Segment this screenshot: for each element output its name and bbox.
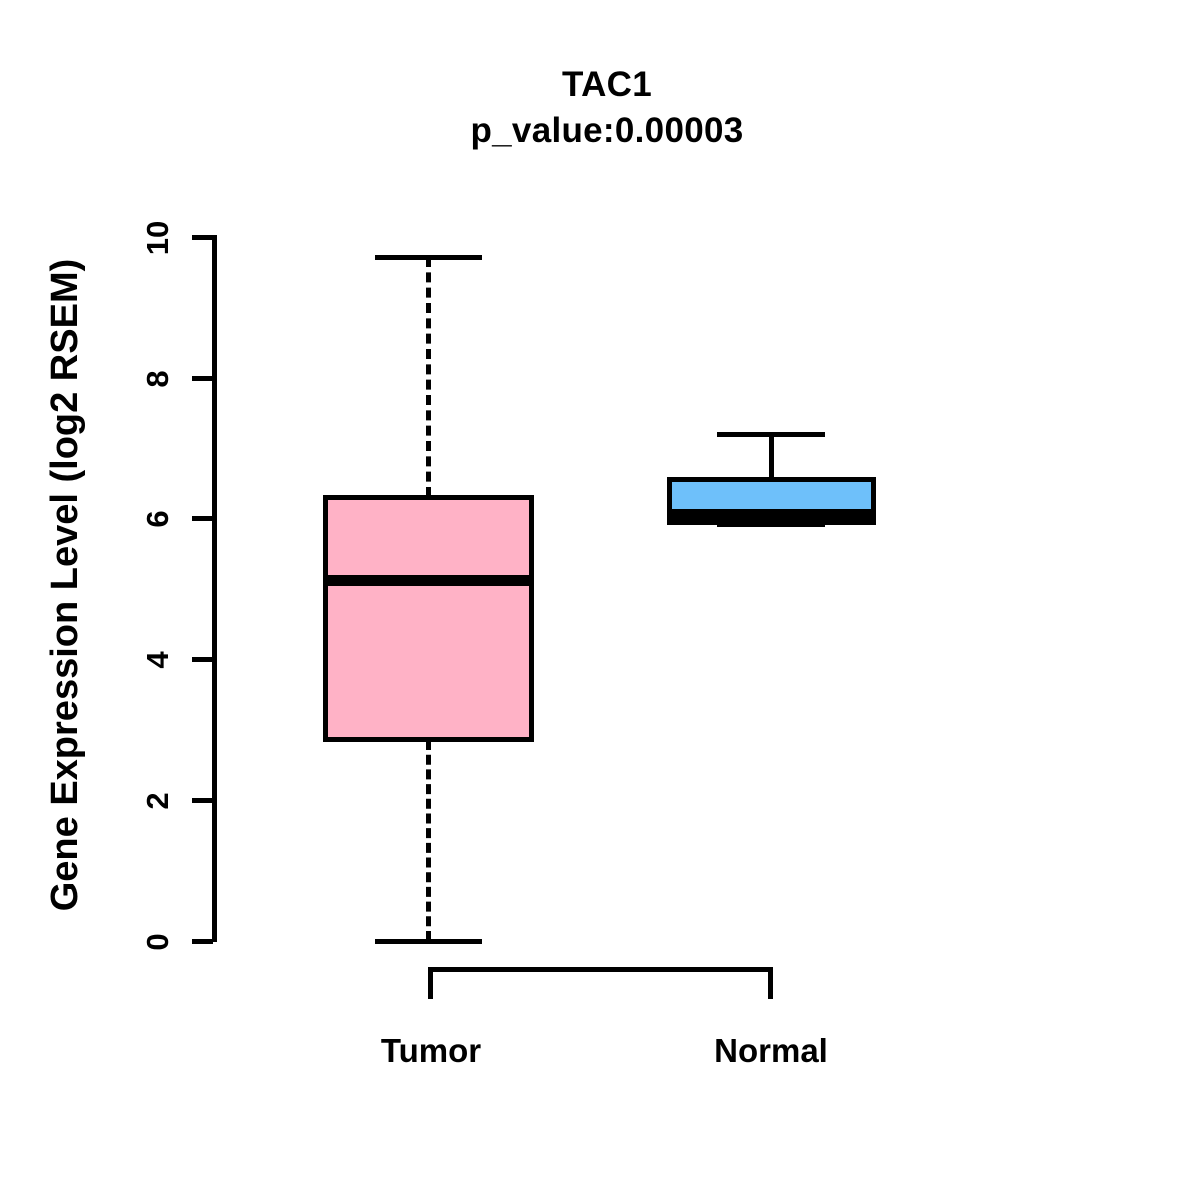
y-tick-label-8: 8 — [140, 349, 170, 409]
y-tick-mark-2 — [192, 798, 213, 803]
tumor-box — [323, 495, 534, 742]
normal-median-line — [667, 509, 876, 520]
y-axis-label: Gene Expression Level (log2 RSEM) — [35, 165, 95, 1005]
tumor-median-line — [323, 575, 534, 586]
x-tick-label-normal: Normal — [621, 1032, 921, 1070]
y-tick-mark-4 — [192, 657, 213, 662]
y-axis-label-text: Gene Expression Level (log2 RSEM) — [44, 259, 87, 912]
y-axis-line — [212, 235, 217, 942]
tumor-lower-whisker-line — [426, 740, 431, 941]
p-value-subtitle: p_value:0.00003 — [14, 108, 1200, 154]
boxplot-figure: TAC1 p_value:0.00003 Gene Expression Lev… — [0, 0, 1200, 1200]
x-tick-mark-normal — [768, 967, 773, 999]
title-block: TAC1 p_value:0.00003 — [0, 62, 1200, 154]
y-tick-mark-8 — [192, 376, 213, 381]
x-tick-mark-tumor — [428, 967, 433, 999]
tumor-upper-whisker-line — [426, 257, 431, 497]
normal-upper-whisker-line — [769, 434, 774, 479]
y-tick-label-10: 10 — [140, 208, 170, 268]
x-axis-line — [428, 967, 773, 972]
page-title: TAC1 — [14, 62, 1200, 108]
x-tick-label-tumor: Tumor — [281, 1032, 581, 1070]
y-tick-mark-6 — [192, 516, 213, 521]
y-tick-label-2: 2 — [140, 771, 170, 831]
y-tick-label-4: 4 — [140, 630, 170, 690]
y-tick-label-6: 6 — [140, 489, 170, 549]
normal-upper-whisker-cap — [717, 432, 825, 437]
tumor-upper-whisker-cap — [375, 255, 482, 260]
y-tick-label-0: 0 — [140, 912, 170, 972]
y-tick-mark-0 — [192, 939, 213, 944]
y-tick-mark-10 — [192, 235, 213, 240]
tumor-lower-whisker-cap — [375, 939, 482, 944]
